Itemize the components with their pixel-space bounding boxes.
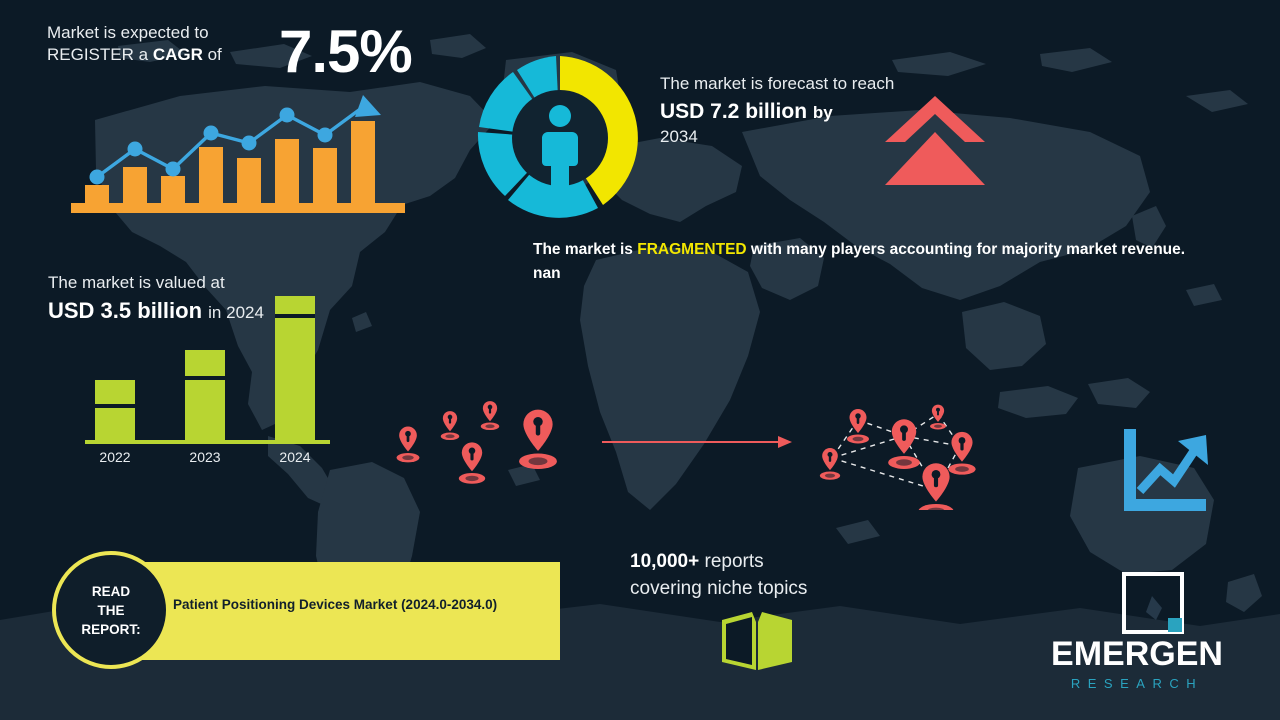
upward-arrows-icon <box>880 90 990 190</box>
logo-subtitle: RESEARCH <box>1018 676 1256 691</box>
market-structure-text: The market is FRAGMENTED with many playe… <box>533 238 1213 286</box>
cagr-line2-pre: REGISTER a <box>47 45 153 64</box>
bar-2024 <box>275 296 315 440</box>
transition-arrow <box>602 436 792 448</box>
market-value-bar-chart: 2022 2023 2024 <box>85 292 330 477</box>
cta-line-3: REPORT: <box>81 620 140 639</box>
forecast-by: by <box>813 103 833 122</box>
pin-cluster-network <box>820 405 976 510</box>
forecast-amount: USD 7.2 billion <box>660 100 807 123</box>
market-fragmentation-illustration <box>380 380 1000 510</box>
emergen-research-logo: EMERGEN RESEARCH <box>1018 572 1256 700</box>
report-banner[interactable]: Patient Positioning Devices Market (2024… <box>110 562 560 660</box>
cta-line-2: THE <box>81 601 140 620</box>
pin-cluster-scattered <box>397 401 557 484</box>
cta-line-1: READ <box>81 582 140 601</box>
forecast-block: The market is forecast to reach USD 7.2 … <box>660 72 910 148</box>
bar-2022 <box>95 380 135 440</box>
cagr-label: Market is expected to REGISTER a CAGR of <box>47 22 222 66</box>
cagr-value: 7.5% <box>279 17 412 86</box>
report-title: Patient Positioning Devices Market (2024… <box>173 588 523 622</box>
forecast-year: 2034 <box>660 126 910 148</box>
fragmented-pre: The market is <box>533 241 637 258</box>
cagr-line2-post: of <box>203 45 222 64</box>
reports-text: 10,000+ reports covering niche topics <box>630 548 910 602</box>
fragmented-keyword: FRAGMENTED <box>637 241 746 258</box>
reports-count: 10,000+ <box>630 551 699 572</box>
logo-wordmark: EMERGEN <box>1018 634 1256 674</box>
cagr-keyword: CAGR <box>153 45 203 64</box>
value-lead: The market is valued at <box>48 272 264 294</box>
forecast-lead: The market is forecast to reach <box>660 72 910 95</box>
reports-line2: covering niche topics <box>630 578 807 599</box>
forecast-value: USD 7.2 billion by <box>660 99 910 126</box>
trend-up-chart-icon <box>1118 425 1213 520</box>
donut-chart-icon <box>470 48 650 228</box>
read-the-report-label: READ THE REPORT: <box>81 582 140 639</box>
bar-tick-2022: 2022 <box>99 449 130 465</box>
read-the-report-button[interactable]: READ THE REPORT: <box>52 551 170 669</box>
bar-tick-2024: 2024 <box>279 449 310 465</box>
open-book-icon <box>718 610 796 672</box>
logo-square-icon <box>1122 572 1184 634</box>
infographic-canvas: Market is expected to REGISTER a CAGR of… <box>0 0 1280 720</box>
bar-2023 <box>185 350 225 440</box>
bar-tick-2023: 2023 <box>189 449 220 465</box>
reports-line1-rest: reports <box>699 551 763 572</box>
growth-bar-chart-icon <box>63 85 413 225</box>
reports-count-block: 10,000+ reports covering niche topics <box>630 548 910 602</box>
cagr-line1: Market is expected to <box>47 23 209 42</box>
